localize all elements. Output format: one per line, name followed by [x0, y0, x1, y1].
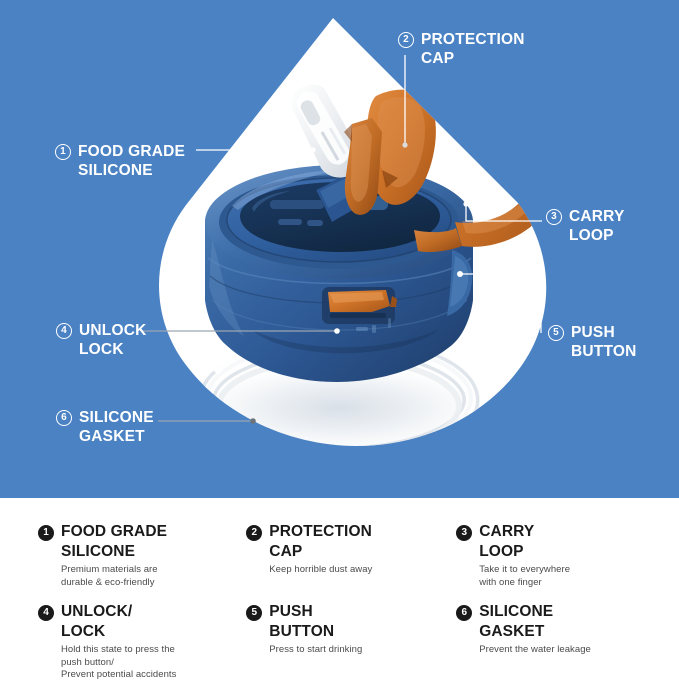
feature-item-6: 6 SILICONE GASKET Prevent the water leak… — [446, 602, 659, 682]
callout-2-line1: PROTECTION — [421, 31, 525, 48]
infographic-root: 1 FOOD GRADE SILICONE 2 PROTECTION CAP 3… — [0, 0, 679, 666]
feature-3-title-line1: CARRY — [479, 523, 534, 540]
feature-item-1: 1 FOOD GRADE SILICONE Premium materials … — [20, 522, 233, 589]
callout-6-line1: SILICONE — [79, 409, 154, 426]
callout-badge-6: 6 — [56, 410, 72, 426]
callout-label-1: FOOD GRADE SILICONE — [78, 142, 185, 180]
callout-3-line2: LOOP — [569, 226, 625, 245]
feature-4-title-line1: UNLOCK/ — [61, 603, 132, 620]
callout-label-4: UNLOCK LOCK — [79, 321, 147, 359]
callout-4-line2: LOCK — [79, 340, 147, 359]
callout-label-2: PROTECTION CAP — [421, 30, 525, 68]
feature-4-header: 4 UNLOCK/ LOCK — [38, 602, 223, 642]
feature-6-header: 6 SILICONE GASKET — [456, 602, 649, 642]
feature-5-title-line2: BUTTON — [269, 622, 334, 642]
feature-item-3: 3 CARRY LOOP Take it to everywhere with … — [446, 522, 659, 589]
feature-badge-1: 1 — [38, 525, 54, 541]
feature-2-header: 2 PROTECTION CAP — [246, 522, 436, 562]
callout-5-push-button: 5 PUSH BUTTON — [548, 323, 637, 361]
callout-6-silicone-gasket: 6 SILICONE GASKET — [56, 408, 154, 446]
feature-2-title-line2: CAP — [269, 542, 372, 562]
callout-4-line1: UNLOCK — [79, 322, 147, 339]
feature-1-title: FOOD GRADE SILICONE — [61, 522, 167, 562]
feature-6-title-line2: GASKET — [479, 622, 553, 642]
feature-1-title-line2: SILICONE — [61, 542, 167, 562]
callout-1-line1: FOOD GRADE — [78, 143, 185, 160]
feature-2-title: PROTECTION CAP — [269, 522, 372, 562]
feature-5-header: 5 PUSH BUTTON — [246, 602, 436, 642]
features-panel: 1 FOOD GRADE SILICONE Premium materials … — [0, 498, 679, 666]
callout-1-line2: SILICONE — [78, 161, 185, 180]
callout-5-line2: BUTTON — [571, 342, 637, 361]
features-row-2: 4 UNLOCK/ LOCK Hold this state to press … — [20, 602, 659, 682]
hero-panel: 1 FOOD GRADE SILICONE 2 PROTECTION CAP 3… — [0, 0, 679, 498]
feature-badge-3: 3 — [456, 525, 472, 541]
callout-badge-5: 5 — [548, 325, 564, 341]
unlock-lock-slider — [322, 287, 397, 324]
feature-badge-2: 2 — [246, 525, 262, 541]
callout-3-carry-loop: 3 CARRY LOOP — [546, 207, 625, 245]
feature-3-header: 3 CARRY LOOP — [456, 522, 649, 562]
feature-badge-4: 4 — [38, 605, 54, 621]
feature-3-title-line2: LOOP — [479, 542, 534, 562]
feature-1-description: Premium materials are durable & eco-frie… — [61, 564, 223, 589]
feature-2-description: Keep horrible dust away — [269, 564, 436, 577]
feature-1-title-line1: FOOD GRADE — [61, 523, 167, 540]
feature-2-title-line1: PROTECTION — [269, 523, 372, 540]
callout-label-5: PUSH BUTTON — [571, 323, 637, 361]
callout-5-line1: PUSH — [571, 324, 615, 341]
callout-2-line2: CAP — [421, 49, 525, 68]
feature-5-description: Press to start drinking — [269, 644, 436, 657]
callout-badge-3: 3 — [546, 209, 562, 225]
feature-5-title-line1: PUSH — [269, 603, 312, 620]
feature-5-title: PUSH BUTTON — [269, 602, 334, 642]
callout-badge-4: 4 — [56, 323, 72, 339]
feature-4-title-line2: LOCK — [61, 622, 132, 642]
callout-4-unlock-lock: 4 UNLOCK LOCK — [56, 321, 147, 359]
feature-4-description: Hold this state to press the push button… — [61, 644, 223, 682]
features-row-1: 1 FOOD GRADE SILICONE Premium materials … — [20, 522, 659, 589]
callout-2-protection-cap: 2 PROTECTION CAP — [398, 30, 525, 68]
feature-item-5: 5 PUSH BUTTON Press to start drinking — [233, 602, 446, 682]
feature-badge-5: 5 — [246, 605, 262, 621]
feature-6-title: SILICONE GASKET — [479, 602, 553, 642]
feature-6-title-line1: SILICONE — [479, 603, 553, 620]
feature-3-description: Take it to everywhere with one finger — [479, 564, 649, 589]
feature-1-header: 1 FOOD GRADE SILICONE — [38, 522, 223, 562]
callout-label-3: CARRY LOOP — [569, 207, 625, 245]
feature-3-title: CARRY LOOP — [479, 522, 534, 562]
feature-item-2: 2 PROTECTION CAP Keep horrible dust away — [233, 522, 446, 589]
callout-6-line2: GASKET — [79, 427, 154, 446]
feature-badge-6: 6 — [456, 605, 472, 621]
feature-4-title: UNLOCK/ LOCK — [61, 602, 132, 642]
callout-label-6: SILICONE GASKET — [79, 408, 154, 446]
callout-3-line1: CARRY — [569, 208, 625, 225]
callout-badge-2: 2 — [398, 32, 414, 48]
callout-badge-1: 1 — [55, 144, 71, 160]
feature-item-4: 4 UNLOCK/ LOCK Hold this state to press … — [20, 602, 233, 682]
callout-1-food-grade-silicone: 1 FOOD GRADE SILICONE — [55, 142, 185, 180]
feature-6-description: Prevent the water leakage — [479, 644, 649, 657]
